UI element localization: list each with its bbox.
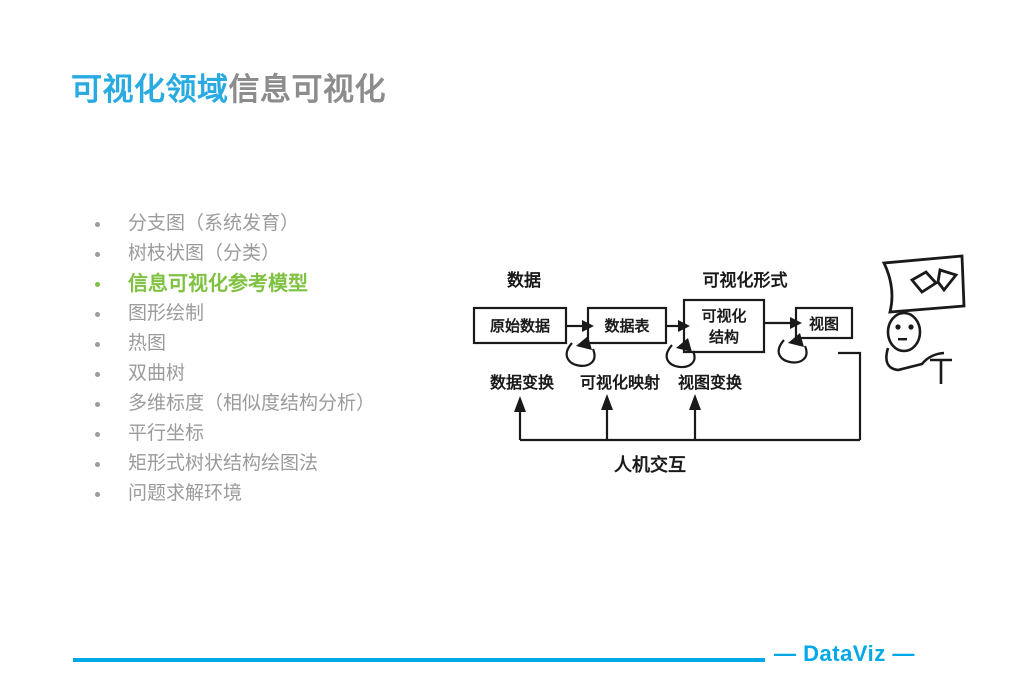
eye-shape-left [912, 272, 936, 292]
bullet-dot-icon [95, 282, 100, 287]
list-item-label: 问题求解环境 [128, 479, 242, 509]
diagram-box-label-raw-data: 原始数据 [490, 317, 550, 335]
diagram-box-label-visual-structure-line2: 结构 [709, 328, 739, 346]
bullet-dot-icon [95, 462, 100, 467]
page-title: 可视化领域信息可视化 [71, 64, 386, 109]
list-item-label: 双曲树 [128, 359, 185, 389]
list-item[interactable]: 双曲树 [90, 359, 460, 389]
bullet-dot-icon [95, 312, 100, 317]
diagram-label-data: 数据 [507, 270, 541, 290]
footer-dash-right: — [892, 641, 915, 666]
list-item[interactable]: 平行坐标 [90, 419, 460, 449]
bullet-dot-icon [95, 372, 100, 377]
diagram-label-human-machine-interaction: 人机交互 [614, 454, 686, 475]
bullet-list: 分支图（系统发育） 树枝状图（分类） 信息可视化参考模型 图形绘制 热图 双曲树… [90, 209, 460, 509]
footer-divider [73, 658, 765, 662]
bullet-dot-icon [95, 402, 100, 407]
diagram-label-data-transform: 数据变换 [490, 373, 555, 392]
arrow-head [576, 336, 592, 350]
interaction-rail-return [838, 353, 860, 440]
footer-brand-label: DataViz [803, 641, 886, 666]
list-item[interactable]: 图形绘制 [90, 299, 460, 329]
footer-brand: — DataViz — [774, 641, 915, 667]
diagram-label-visual-form: 可视化形式 [703, 270, 788, 290]
diagram-label-visual-mapping: 可视化映射 [580, 373, 660, 392]
diagram-label-view-transform: 视图变换 [678, 373, 743, 392]
diagram-box-label-visual-structure-line1: 可视化 [701, 307, 746, 325]
list-item-label: 图形绘制 [128, 299, 204, 329]
display-screen-shape [884, 256, 964, 312]
list-item-label: 热图 [128, 329, 166, 359]
list-item[interactable]: 树枝状图（分类） [90, 239, 460, 269]
list-item-label: 多维标度（相似度结构分析） [128, 389, 375, 419]
list-item[interactable]: 多维标度（相似度结构分析） [90, 389, 460, 419]
page-title-accent: 可视化领域 [71, 72, 229, 107]
list-item-label: 信息可视化参考模型 [128, 269, 308, 299]
list-item-label: 矩形式树状结构绘图法 [128, 449, 318, 479]
person-eye-left [895, 324, 900, 329]
bullet-dot-icon [95, 252, 100, 257]
list-item-label: 平行坐标 [128, 419, 204, 449]
person-eye-right [908, 324, 913, 329]
page-title-muted: 信息可视化 [229, 72, 387, 107]
list-item-label: 树枝状图（分类） [128, 239, 280, 269]
diagram-box-label-data-table: 数据表 [604, 317, 650, 335]
bullet-dot-icon [95, 492, 100, 497]
list-item[interactable]: 矩形式树状结构绘图法 [90, 449, 460, 479]
diagram-box-label-view: 视图 [809, 315, 839, 333]
bullet-dot-icon [95, 222, 100, 227]
list-item[interactable]: 分支图（系统发育） [90, 209, 460, 239]
bullet-dot-icon [95, 432, 100, 437]
footer-dash-left: — [774, 641, 797, 666]
list-item-highlighted[interactable]: 信息可视化参考模型 [90, 269, 460, 299]
bullet-dot-icon [95, 342, 100, 347]
person-mouth [898, 338, 907, 340]
arrow-head [689, 394, 701, 410]
list-item-label: 分支图（系统发育） [128, 209, 299, 239]
arrow-head [514, 396, 526, 412]
list-item[interactable]: 热图 [90, 329, 460, 359]
arrow-head [601, 394, 613, 410]
person-head [888, 313, 920, 351]
reference-model-diagram: 数据 可视化形式 原始数据 数据表 可视化 结构 视图 数据变换 可视化映射 视… [452, 250, 997, 505]
slide: 可视化领域信息可视化 分支图（系统发育） 树枝状图（分类） 信息可视化参考模型 … [0, 0, 1024, 682]
eye-shape-right [938, 270, 956, 290]
list-item[interactable]: 问题求解环境 [90, 479, 460, 509]
